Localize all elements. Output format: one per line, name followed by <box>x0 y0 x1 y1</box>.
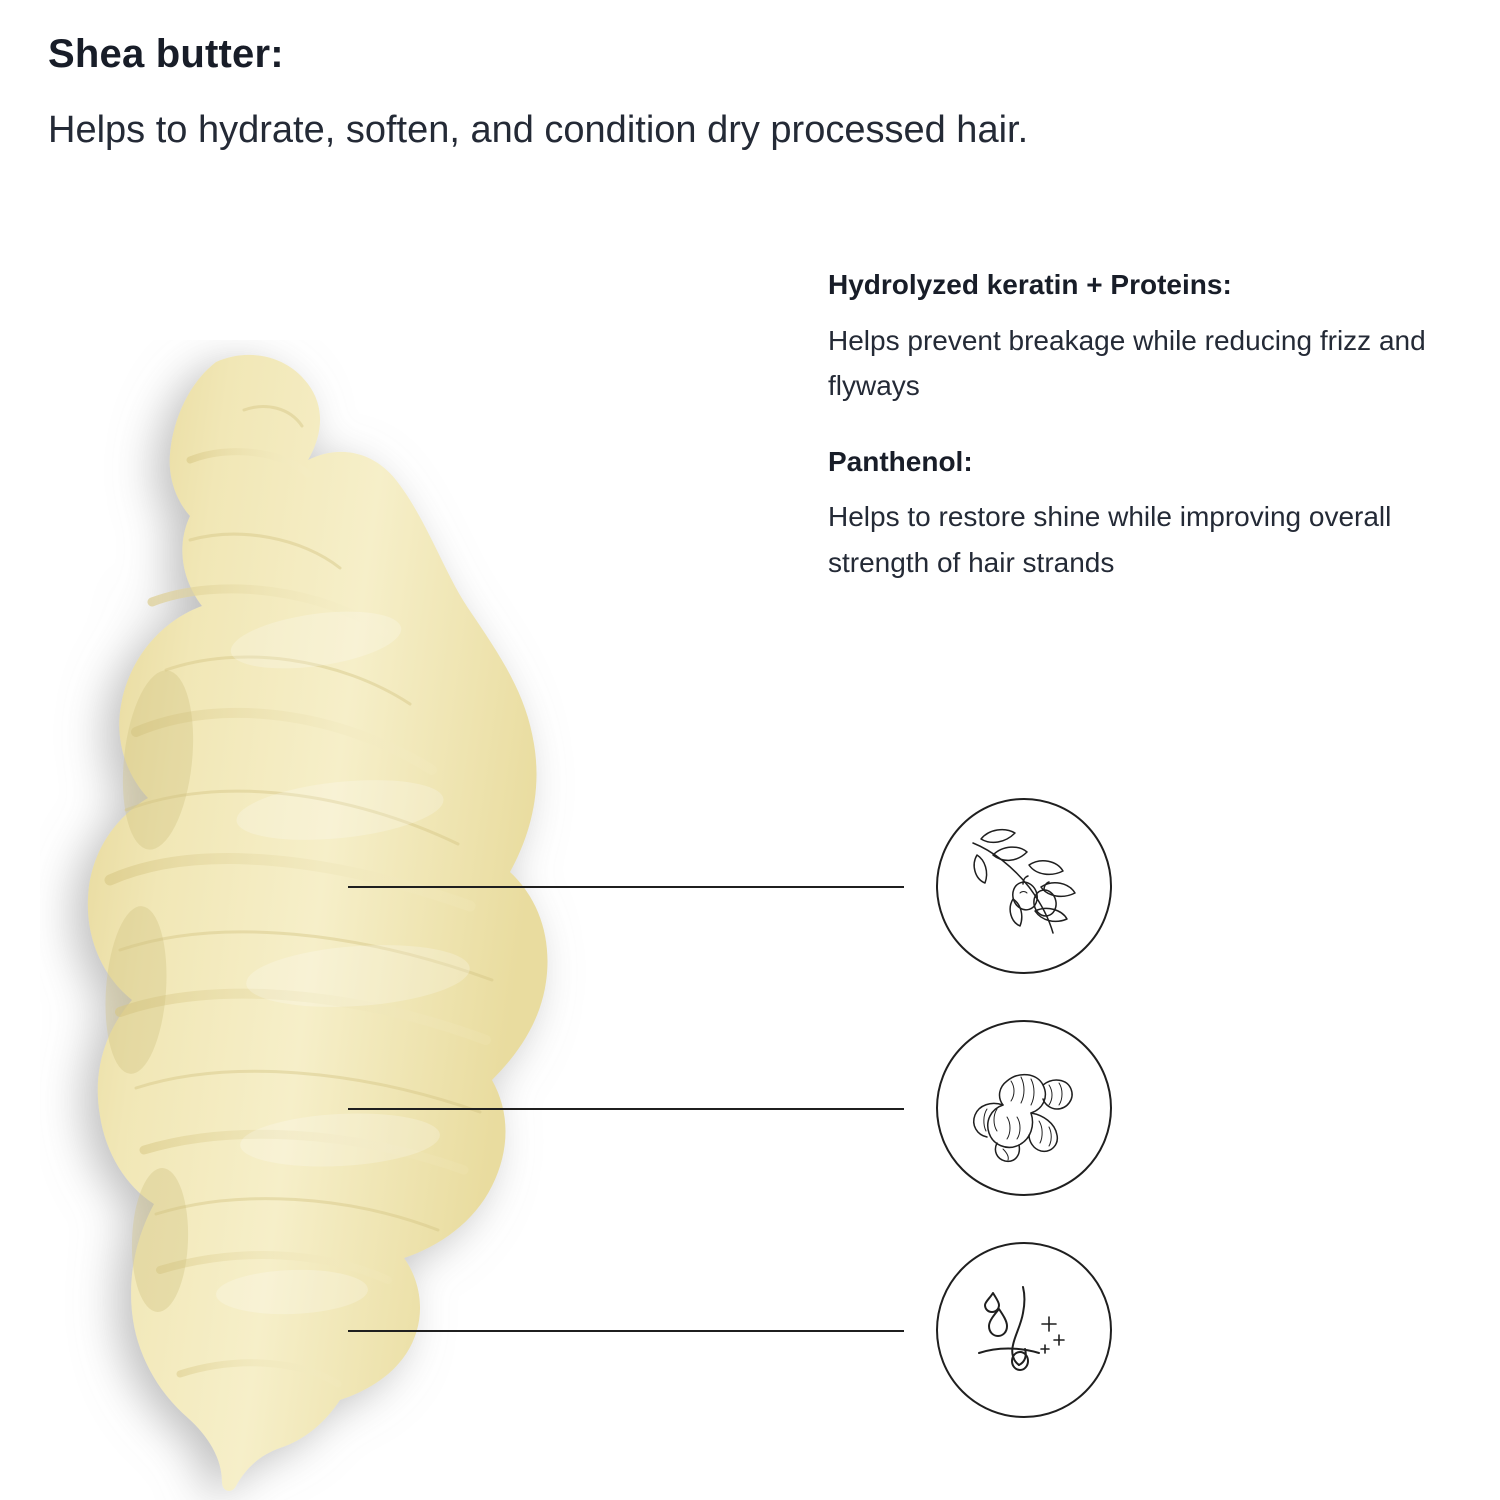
ingredient-title: Hydrolyzed keratin + Proteins: <box>828 266 1448 304</box>
leader-line-olive <box>348 886 904 888</box>
olive-branch-icon <box>936 798 1112 974</box>
ingredient-text-column: Hydrolyzed keratin + Proteins: Helps pre… <box>828 266 1448 585</box>
ingredient-title: Panthenol: <box>828 443 1448 481</box>
ingredient-block-panthenol: Panthenol: Helps to restore shine while … <box>828 443 1448 586</box>
ingredient-description: Helps to restore shine while improving o… <box>828 494 1448 585</box>
headline-block: Shea butter: Helps to hydrate, soften, a… <box>48 30 1168 162</box>
leader-line-ginger <box>348 1108 904 1110</box>
page-title: Shea butter: <box>48 30 1168 78</box>
ingredient-description: Helps prevent breakage while reducing fr… <box>828 318 1448 409</box>
ginger-root-icon <box>936 1020 1112 1196</box>
shea-butter-smear <box>40 340 680 1500</box>
ingredient-block-keratin: Hydrolyzed keratin + Proteins: Helps pre… <box>828 266 1448 409</box>
headline-description: Helps to hydrate, soften, and condition … <box>48 100 1138 162</box>
hair-follicle-droplet-icon <box>936 1242 1112 1418</box>
leader-line-follicle <box>348 1330 904 1332</box>
